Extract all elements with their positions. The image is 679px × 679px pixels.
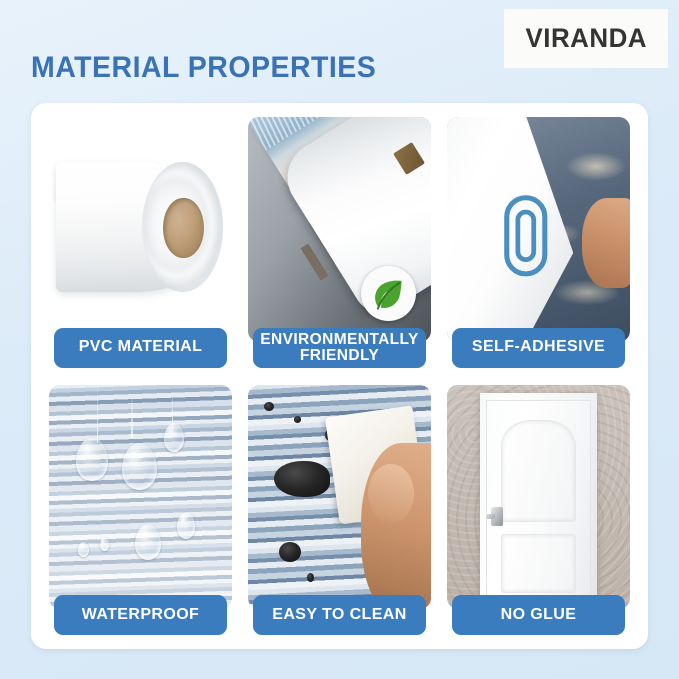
feature-card-easy-to-clean[interactable]: EASY TO CLEAN bbox=[248, 385, 431, 636]
waterproof-image bbox=[49, 385, 232, 610]
stain-mark bbox=[294, 416, 301, 423]
feature-label-pvc-material: PVC MATERIAL bbox=[54, 328, 227, 368]
feature-label-easy-to-clean: EASY TO CLEAN bbox=[253, 595, 426, 635]
features-grid: PVC MATERIAL ENVIRONMENTALLYFRIENDLY bbox=[49, 117, 630, 635]
hand-shape bbox=[361, 443, 431, 609]
door-frame-shape bbox=[480, 393, 597, 600]
water-drop bbox=[78, 542, 89, 558]
water-drop bbox=[100, 537, 109, 550]
brand-logo: VIRANDA bbox=[504, 9, 668, 68]
leaf-icon bbox=[369, 274, 409, 314]
feature-label-waterproof: WATERPROOF bbox=[54, 595, 227, 635]
water-drop bbox=[164, 423, 184, 452]
water-drop bbox=[177, 512, 195, 539]
feature-label-environmentally-friendly: ENVIRONMENTALLYFRIENDLY bbox=[253, 328, 426, 368]
feature-card-no-glue[interactable]: NO GLUE bbox=[447, 385, 630, 636]
door-handle-shape bbox=[491, 507, 503, 527]
no-glue-door-image bbox=[447, 385, 630, 610]
stain-mark bbox=[264, 402, 273, 411]
water-drop bbox=[122, 443, 157, 490]
self-adhesive-image bbox=[447, 117, 630, 342]
door-shape bbox=[486, 400, 591, 598]
feature-card-pvc-material[interactable]: PVC MATERIAL bbox=[49, 117, 232, 368]
paperclip-icon bbox=[502, 193, 550, 279]
door-panel-bottom-shape bbox=[501, 534, 575, 593]
page-title: MATERIAL PROPERTIES bbox=[31, 51, 376, 85]
pvc-roll-image bbox=[49, 117, 232, 342]
stain-mark bbox=[279, 542, 301, 562]
easy-to-clean-image bbox=[248, 385, 431, 610]
pvc-roll-core-shape bbox=[163, 198, 203, 259]
feature-card-waterproof[interactable]: WATERPROOF bbox=[49, 385, 232, 636]
paperclip-badge bbox=[502, 193, 550, 284]
eco-roll-image bbox=[248, 117, 431, 342]
feature-label-self-adhesive: SELF-ADHESIVE bbox=[452, 328, 625, 368]
right-hand-shape bbox=[582, 198, 630, 288]
features-panel: PVC MATERIAL ENVIRONMENTALLYFRIENDLY bbox=[31, 103, 648, 649]
feature-label-no-glue: NO GLUE bbox=[452, 595, 625, 635]
brand-name: VIRANDA bbox=[525, 23, 646, 54]
stain-mark bbox=[307, 573, 314, 582]
door-panel-top-shape bbox=[501, 420, 575, 522]
water-trail-shape bbox=[131, 398, 133, 438]
stain-mark bbox=[274, 461, 331, 497]
feature-card-self-adhesive[interactable]: SELF-ADHESIVE bbox=[447, 117, 630, 368]
water-drop bbox=[135, 524, 161, 560]
water-trail-shape bbox=[97, 389, 99, 443]
feature-card-environmentally-friendly[interactable]: ENVIRONMENTALLYFRIENDLY bbox=[248, 117, 431, 368]
page-header: MATERIAL PROPERTIES VIRANDA bbox=[0, 0, 679, 103]
eco-badge bbox=[361, 266, 416, 321]
water-drop bbox=[76, 438, 107, 481]
